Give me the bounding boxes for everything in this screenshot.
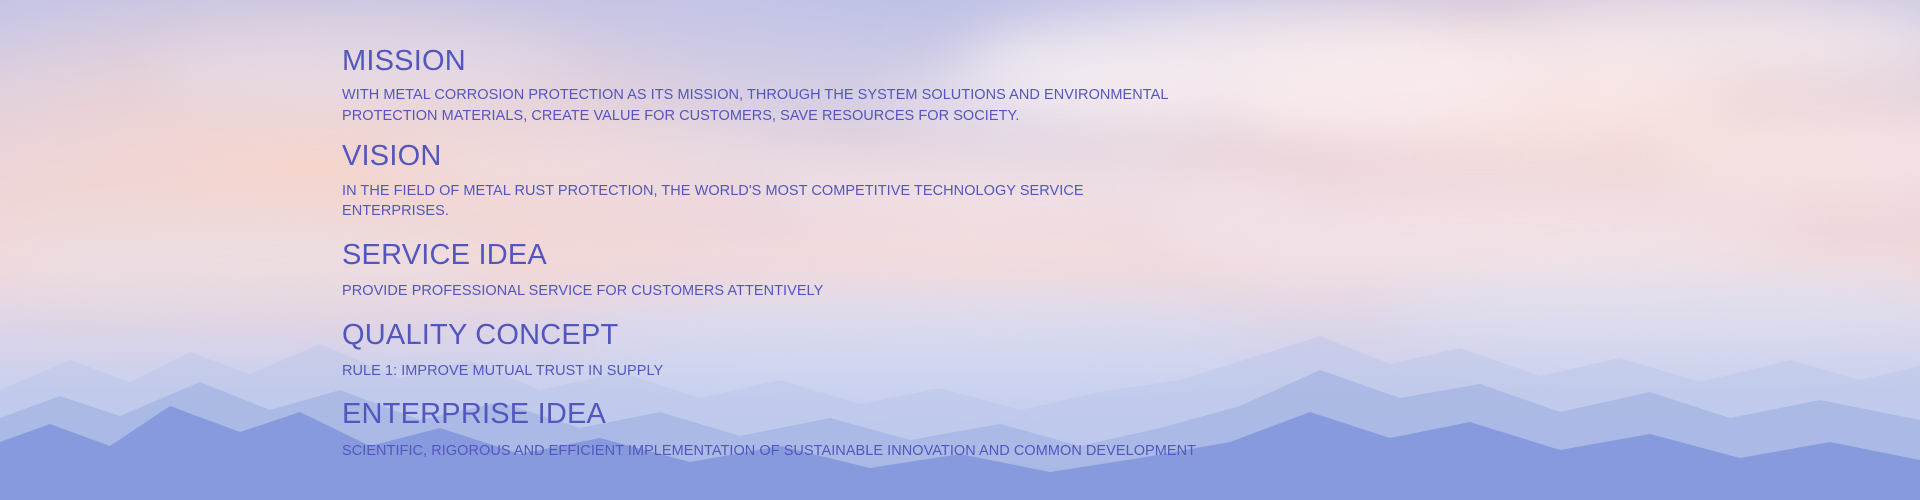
section-mission: MISSION WITH METAL CORROSION PROTECTION … <box>342 44 1542 126</box>
section-body-enterprise-idea: SCIENTIFIC, RIGOROUS AND EFFICIENT IMPLE… <box>342 441 1242 462</box>
section-body-vision: IN THE FIELD OF METAL RUST PROTECTION, T… <box>342 181 1190 222</box>
section-body-mission: WITH METAL CORROSION PROTECTION AS ITS M… <box>342 85 1192 126</box>
corporate-culture-banner: MISSION WITH METAL CORROSION PROTECTION … <box>0 0 1920 500</box>
section-heading-quality-concept: QUALITY CONCEPT <box>342 318 1542 352</box>
section-body-quality-concept: RULE 1: IMPROVE MUTUAL TRUST IN SUPPLY <box>342 361 1190 382</box>
section-heading-vision: VISION <box>342 139 1542 173</box>
section-heading-service-idea: SERVICE IDEA <box>342 238 1542 272</box>
section-body-service-idea: PROVIDE PROFESSIONAL SERVICE FOR CUSTOME… <box>342 281 1190 302</box>
section-heading-mission: MISSION <box>342 44 1542 78</box>
section-quality-concept: QUALITY CONCEPT RULE 1: IMPROVE MUTUAL T… <box>342 318 1542 382</box>
section-enterprise-idea: ENTERPRISE IDEA SCIENTIFIC, RIGOROUS AND… <box>342 397 1542 461</box>
section-heading-enterprise-idea: ENTERPRISE IDEA <box>342 397 1542 431</box>
culture-text-block: MISSION WITH METAL CORROSION PROTECTION … <box>342 44 1542 463</box>
section-vision: VISION IN THE FIELD OF METAL RUST PROTEC… <box>342 139 1542 221</box>
section-service-idea: SERVICE IDEA PROVIDE PROFESSIONAL SERVIC… <box>342 238 1542 302</box>
